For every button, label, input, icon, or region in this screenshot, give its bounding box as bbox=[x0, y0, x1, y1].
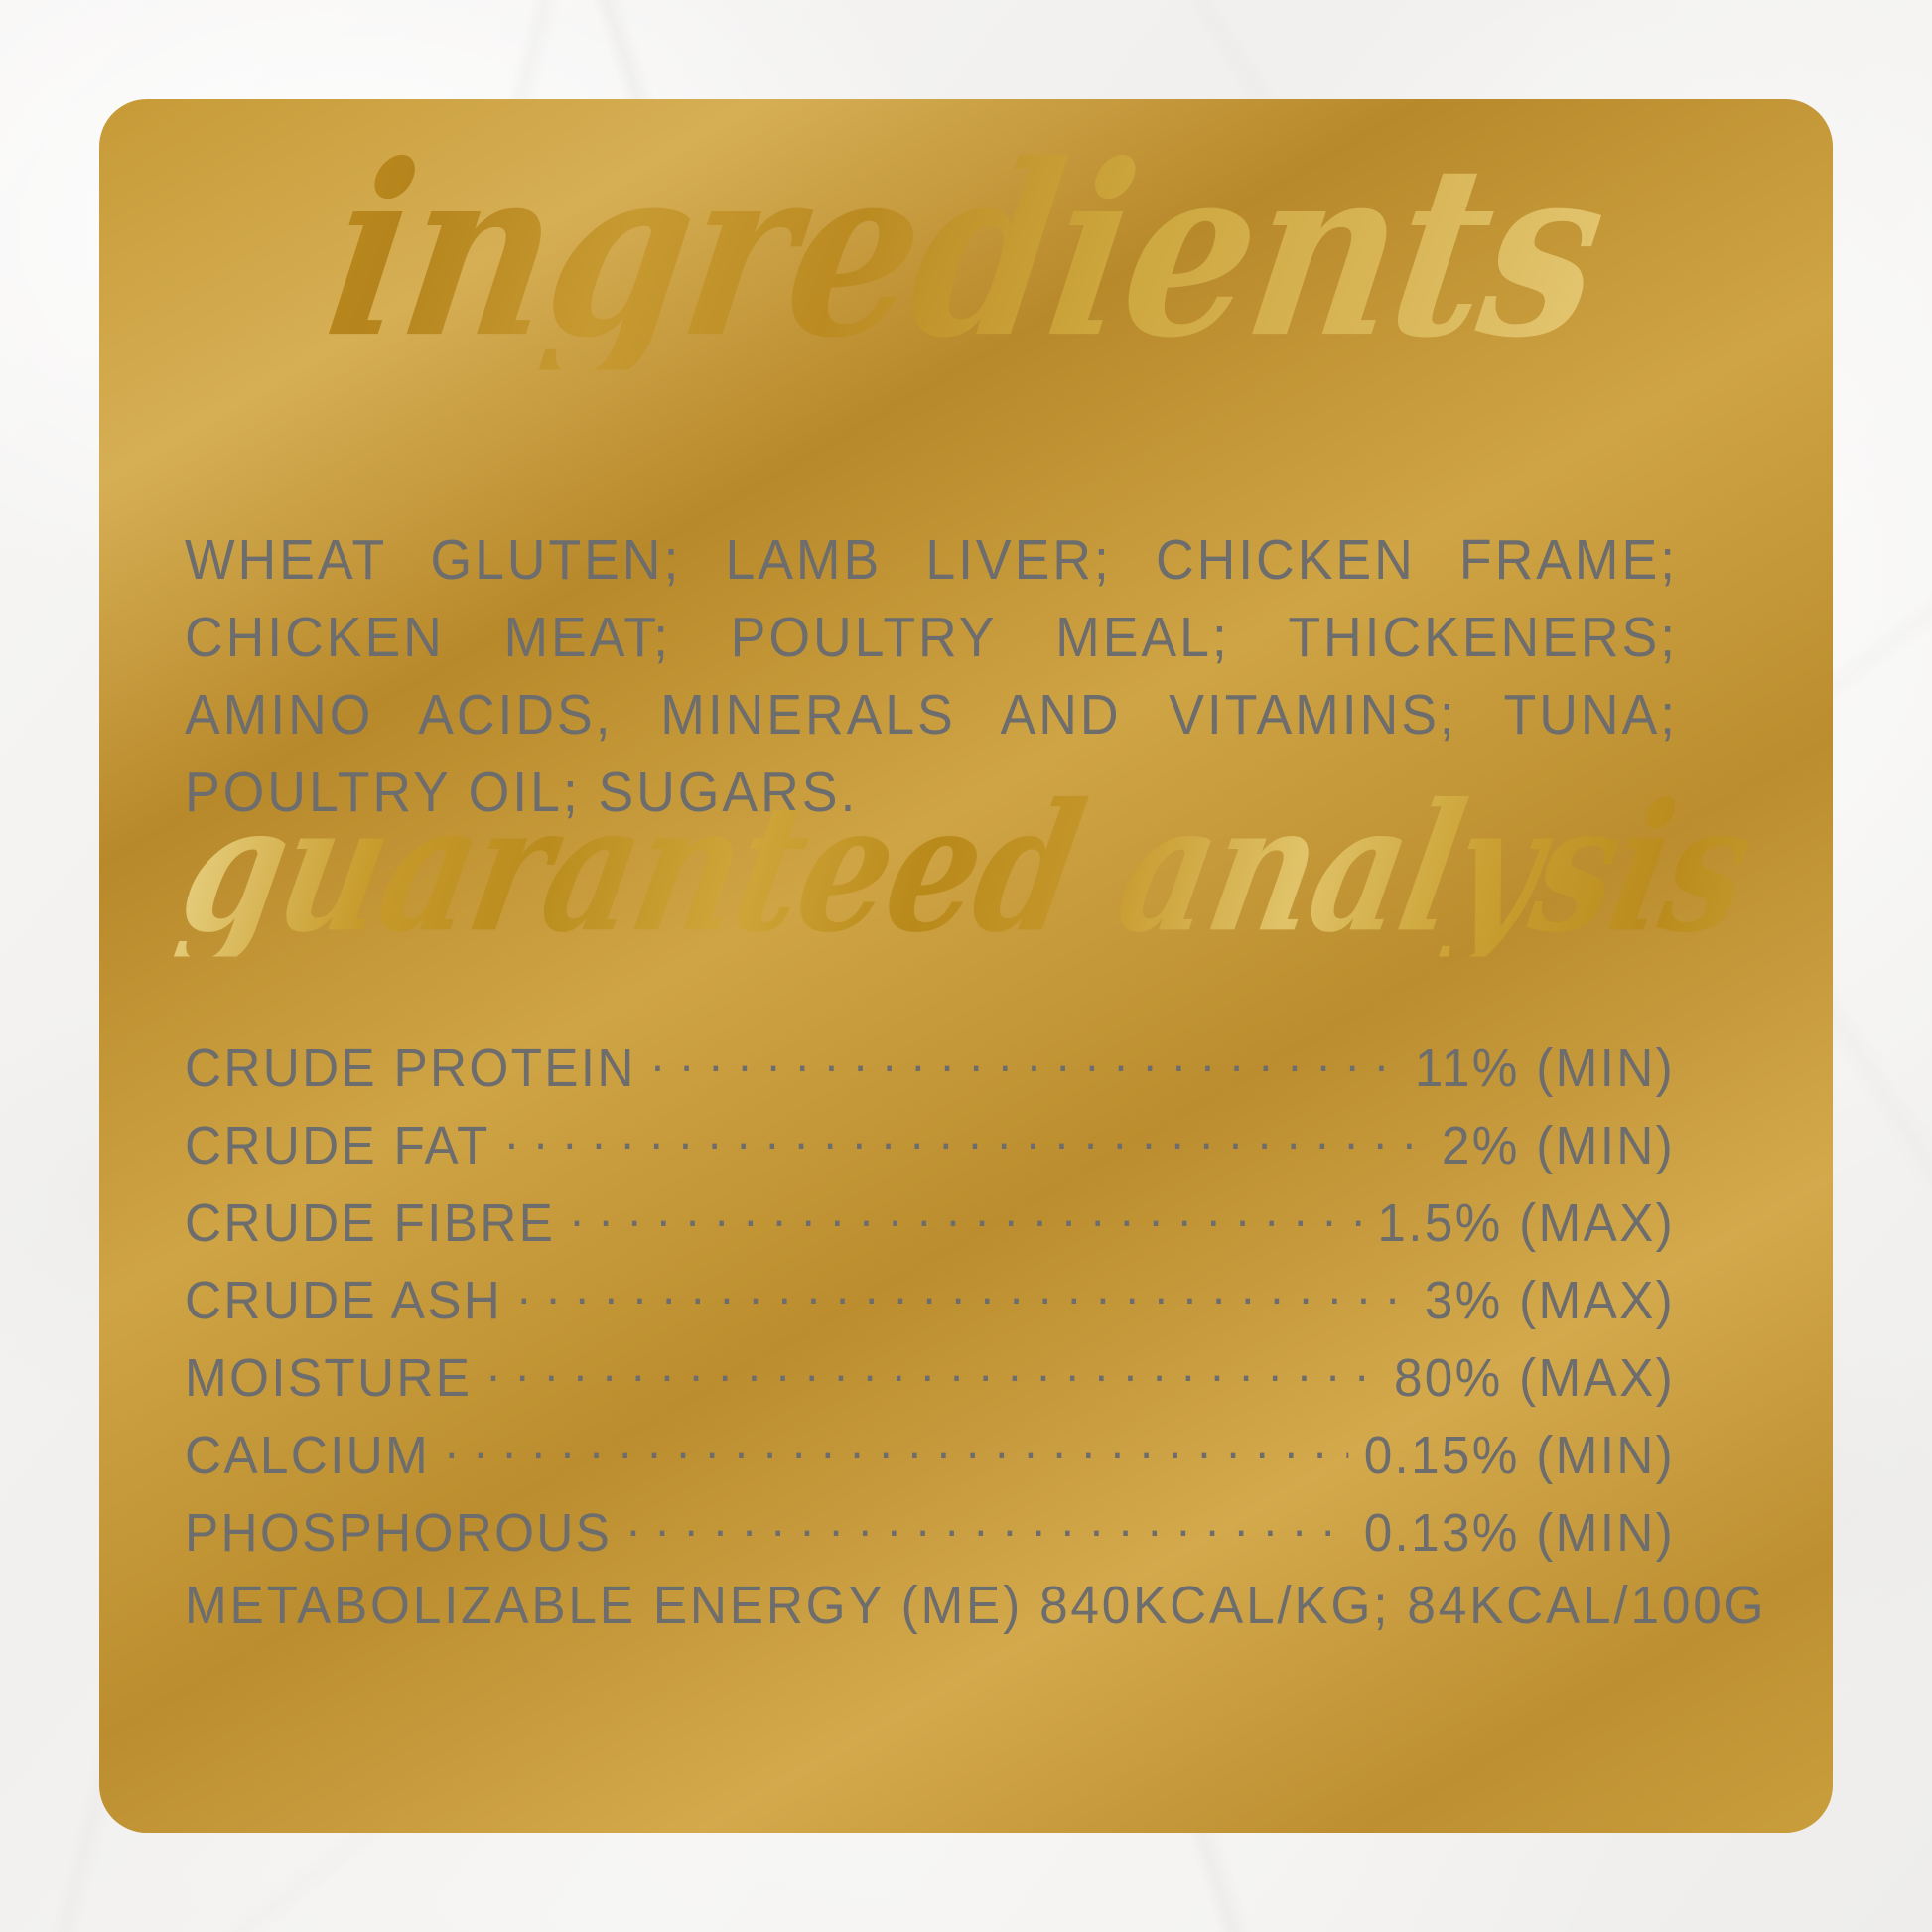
table-row: CRUDE FAT 2% (MIN) bbox=[185, 1110, 1675, 1187]
dotted-leader bbox=[486, 1342, 1378, 1396]
table-row: CRUDE FIBRE 1.5% (MAX) bbox=[185, 1187, 1675, 1265]
label-content: ingredients WHEAT GLUTEN; LAMB LIVER; CH… bbox=[0, 0, 1932, 1932]
dotted-leader bbox=[517, 1265, 1409, 1318]
dotted-leader bbox=[505, 1110, 1427, 1164]
nutrient-value: 1.5% (MAX) bbox=[1377, 1192, 1675, 1254]
guaranteed-analysis-heading: guaranteed analysis bbox=[31, 781, 1900, 957]
nutrient-label: PHOSPHOROUS bbox=[185, 1502, 612, 1564]
nutrient-label: CRUDE ASH bbox=[185, 1270, 502, 1331]
nutrient-value: 11% (MIN) bbox=[1415, 1037, 1675, 1099]
label-canvas: ingredients WHEAT GLUTEN; LAMB LIVER; CH… bbox=[0, 0, 1932, 1932]
nutrient-label: MOISTURE bbox=[185, 1347, 472, 1409]
guaranteed-analysis-table: CRUDE PROTEIN 11% (MIN) CRUDE FAT 2% (MI… bbox=[185, 1033, 1675, 1652]
nutrient-value: 2% (MIN) bbox=[1442, 1115, 1675, 1176]
nutrient-label: CRUDE FIBRE bbox=[185, 1192, 555, 1254]
nutrient-label: CALCIUM bbox=[185, 1425, 430, 1486]
dotted-leader bbox=[445, 1420, 1348, 1473]
ingredients-heading: ingredients bbox=[10, 134, 1921, 369]
table-row: METABOLIZABLE ENERGY (ME) 840KCAL/KG; 84… bbox=[185, 1575, 1675, 1652]
dotted-leader bbox=[651, 1033, 1400, 1086]
table-row: CRUDE ASH 3% (MAX) bbox=[185, 1265, 1675, 1342]
table-row: MOISTURE 80% (MAX) bbox=[185, 1342, 1675, 1420]
nutrient-value: 80% (MAX) bbox=[1394, 1347, 1675, 1409]
nutrient-label: CRUDE PROTEIN bbox=[185, 1037, 636, 1099]
nutrient-value: 0.13% (MIN) bbox=[1364, 1502, 1675, 1564]
nutrient-value: 0.15% (MIN) bbox=[1364, 1425, 1675, 1486]
metabolizable-energy-label: METABOLIZABLE ENERGY (ME) 840KCAL/KG; 84… bbox=[185, 1575, 1766, 1636]
nutrient-label: CRUDE FAT bbox=[185, 1115, 490, 1176]
dotted-leader bbox=[626, 1497, 1348, 1551]
table-row: CALCIUM 0.15% (MIN) bbox=[185, 1420, 1675, 1497]
nutrient-value: 3% (MAX) bbox=[1425, 1270, 1675, 1331]
table-row: CRUDE PROTEIN 11% (MIN) bbox=[185, 1033, 1675, 1110]
dotted-leader bbox=[570, 1187, 1362, 1241]
table-row: PHOSPHOROUS 0.13% (MIN) bbox=[185, 1497, 1675, 1575]
